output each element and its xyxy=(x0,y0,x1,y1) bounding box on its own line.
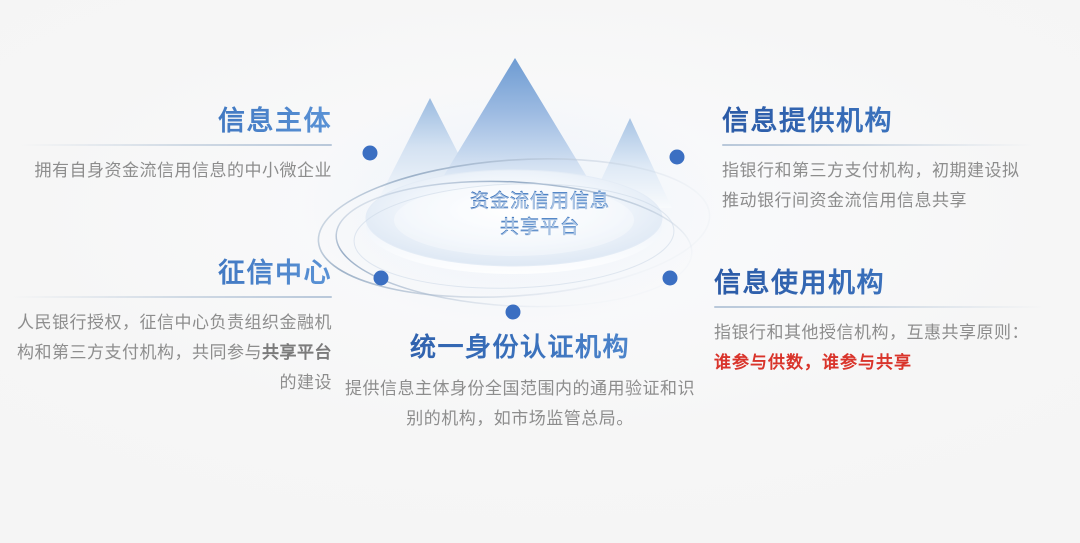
heading-underline xyxy=(714,306,1044,308)
description-information-subject: 拥有自身资金流信用信息的中小微企业 xyxy=(20,156,332,186)
heading-information-provider: 信息提供机构 xyxy=(722,104,1034,138)
orbit-node xyxy=(670,150,685,165)
heading-underline xyxy=(20,144,332,146)
description-identity-authority: 提供信息主体身份全国范围内的通用验证和识别的机构，如市场监管总局。 xyxy=(340,374,700,434)
orbit-node xyxy=(506,305,521,320)
heading-information-user: 信息使用机构 xyxy=(714,266,1044,300)
description-highlight: 谁参与供数，谁参与共享 xyxy=(714,353,912,372)
description-emphasis: 共享平台 xyxy=(262,343,332,362)
block-credit-center: 征信中心 人民银行授权，征信中心负责组织金融机构和第三方支付机构，共同参与共享平… xyxy=(12,256,332,398)
description-information-user: 指银行和其他授信机构，互惠共享原则：谁参与供数，谁参与共享 xyxy=(714,318,1044,378)
infographic-canvas: 资金流信用信息 共享平台 信息主体 拥有自身资金流信用信息的中小微企业 征信中心… xyxy=(0,0,1080,543)
heading-underline xyxy=(12,296,332,298)
orbit-node xyxy=(663,271,678,286)
mountain-platform-illustration xyxy=(300,30,780,350)
platform-disc xyxy=(366,170,662,274)
block-information-subject: 信息主体 拥有自身资金流信用信息的中小微企业 xyxy=(20,104,332,186)
description-credit-center: 人民银行授权，征信中心负责组织金融机构和第三方支付机构，共同参与共享平台的建设 xyxy=(12,308,332,398)
orbit-node xyxy=(374,271,389,286)
description-part-2: 的建设 xyxy=(280,373,333,392)
heading-identity-authority: 统一身份认证机构 xyxy=(340,330,700,364)
description-information-provider: 指银行和第三方支付机构，初期建设拟推动银行间资金流信用信息共享 xyxy=(722,156,1034,216)
orbit-node xyxy=(363,146,378,161)
heading-credit-center: 征信中心 xyxy=(12,256,332,290)
heading-underline xyxy=(722,144,1034,146)
description-part-1: 指银行和其他授信机构，互惠共享原则： xyxy=(714,323,1029,342)
block-information-user: 信息使用机构 指银行和其他授信机构，互惠共享原则：谁参与供数，谁参与共享 xyxy=(714,266,1044,378)
block-identity-authority: 统一身份认证机构 提供信息主体身份全国范围内的通用验证和识别的机构，如市场监管总… xyxy=(340,330,700,434)
heading-information-subject: 信息主体 xyxy=(20,104,332,138)
block-information-provider: 信息提供机构 指银行和第三方支付机构，初期建设拟推动银行间资金流信用信息共享 xyxy=(722,104,1034,216)
